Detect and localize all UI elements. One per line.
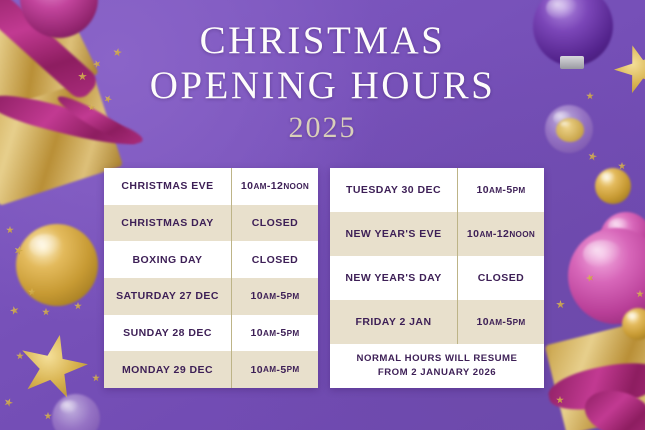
gold-star-confetti <box>618 162 626 170</box>
resume-note-line2: FROM 2 JANUARY 2026 <box>378 367 496 378</box>
table-row: NEW YEAR'S DAYCLOSED <box>330 256 544 300</box>
day-cell: SUNDAY 28 DEC <box>104 315 232 352</box>
table-row: MONDAY 29 DEC10AM-5PM <box>104 351 318 388</box>
hours-cell: CLOSED <box>232 205 318 242</box>
hours-cell: 10AM-12NOON <box>458 212 544 256</box>
gold-star-confetti <box>13 245 24 256</box>
hours-cell: CLOSED <box>458 256 544 300</box>
gold-star-confetti <box>585 273 595 283</box>
table-row: FRIDAY 2 JAN10AM-5PM <box>330 300 544 344</box>
hours-cell: 10AM-5PM <box>232 278 318 315</box>
gold-star-confetti <box>16 352 24 360</box>
clear-gold-bauble-bottom-left <box>52 394 100 430</box>
gold-star-confetti <box>28 288 36 296</box>
day-cell: CHRISTMAS DAY <box>104 205 232 242</box>
day-cell: NEW YEAR'S EVE <box>330 212 458 256</box>
gold-star-confetti <box>92 374 100 382</box>
hours-cell: 10AM-5PM <box>232 315 318 352</box>
gold-star-confetti <box>9 305 20 316</box>
left-hours-table: CHRISTMAS EVE10AM-12NOONCHRISTMAS DAYCLO… <box>104 168 318 388</box>
pink-bauble-right <box>600 212 645 264</box>
day-cell: TUESDAY 30 DEC <box>330 168 458 212</box>
table-row: SUNDAY 28 DEC10AM-5PM <box>104 315 318 352</box>
hours-cell: 10AM-12NOON <box>232 168 318 205</box>
gold-star-confetti <box>74 302 82 310</box>
heading-line-christmas: CHRISTMAS <box>0 18 645 63</box>
table-row: TUESDAY 30 DEC10AM-5PM <box>330 168 544 212</box>
day-cell: CHRISTMAS EVE <box>104 168 232 205</box>
hours-cell: 10AM-5PM <box>458 300 544 344</box>
christmas-opening-hours-poster: CHRISTMAS OPENING HOURS 2025 CHRISTMAS E… <box>0 0 645 430</box>
pink-glitter-bauble-bottom-right <box>568 228 645 324</box>
gold-glitter-star-left <box>12 327 94 406</box>
heading-line-opening-hours: OPENING HOURS <box>0 63 645 108</box>
small-gold-bauble-right <box>595 168 631 204</box>
table-row: SATURDAY 27 DEC10AM-5PM <box>104 278 318 315</box>
magenta-bow-loop-bottom-right <box>579 383 645 430</box>
gold-bauble-left <box>16 224 98 306</box>
gold-gift-box-bottom-right <box>545 317 645 430</box>
hours-cell: CLOSED <box>232 241 318 278</box>
gold-star-confetti <box>636 290 644 298</box>
day-cell: MONDAY 29 DEC <box>104 351 232 388</box>
poster-heading: CHRISTMAS OPENING HOURS 2025 <box>0 18 645 146</box>
opening-hours-tables: CHRISTMAS EVE10AM-12NOONCHRISTMAS DAYCLO… <box>104 168 544 388</box>
heading-year: 2025 <box>0 110 645 146</box>
gold-star-confetti <box>6 226 14 234</box>
table-row: CHRISTMAS EVE10AM-12NOON <box>104 168 318 205</box>
gold-star-confetti <box>587 151 598 162</box>
day-cell: NEW YEAR'S DAY <box>330 256 458 300</box>
day-cell: BOXING DAY <box>104 241 232 278</box>
hours-cell: 10AM-5PM <box>458 168 544 212</box>
gold-star-confetti <box>556 396 564 404</box>
hours-cell: 10AM-5PM <box>232 351 318 388</box>
resume-note: NORMAL HOURS WILL RESUMEFROM 2 JANUARY 2… <box>330 344 544 388</box>
day-cell: SATURDAY 27 DEC <box>104 278 232 315</box>
resume-note-line1: NORMAL HOURS WILL RESUME <box>357 353 518 364</box>
magenta-bow-bottom-right <box>545 354 645 418</box>
day-cell: FRIDAY 2 JAN <box>330 300 458 344</box>
gold-star-confetti <box>44 412 52 420</box>
gold-star-confetti <box>42 308 50 316</box>
table-row: NEW YEAR'S EVE10AM-12NOON <box>330 212 544 256</box>
gold-star-confetti <box>3 397 15 409</box>
right-hours-table: TUESDAY 30 DEC10AM-5PMNEW YEAR'S EVE10AM… <box>330 168 544 388</box>
gold-star-confetti <box>556 300 565 309</box>
table-row: BOXING DAYCLOSED <box>104 241 318 278</box>
small-gold-bauble-bottom-right <box>622 308 645 340</box>
table-row: CHRISTMAS DAYCLOSED <box>104 205 318 242</box>
